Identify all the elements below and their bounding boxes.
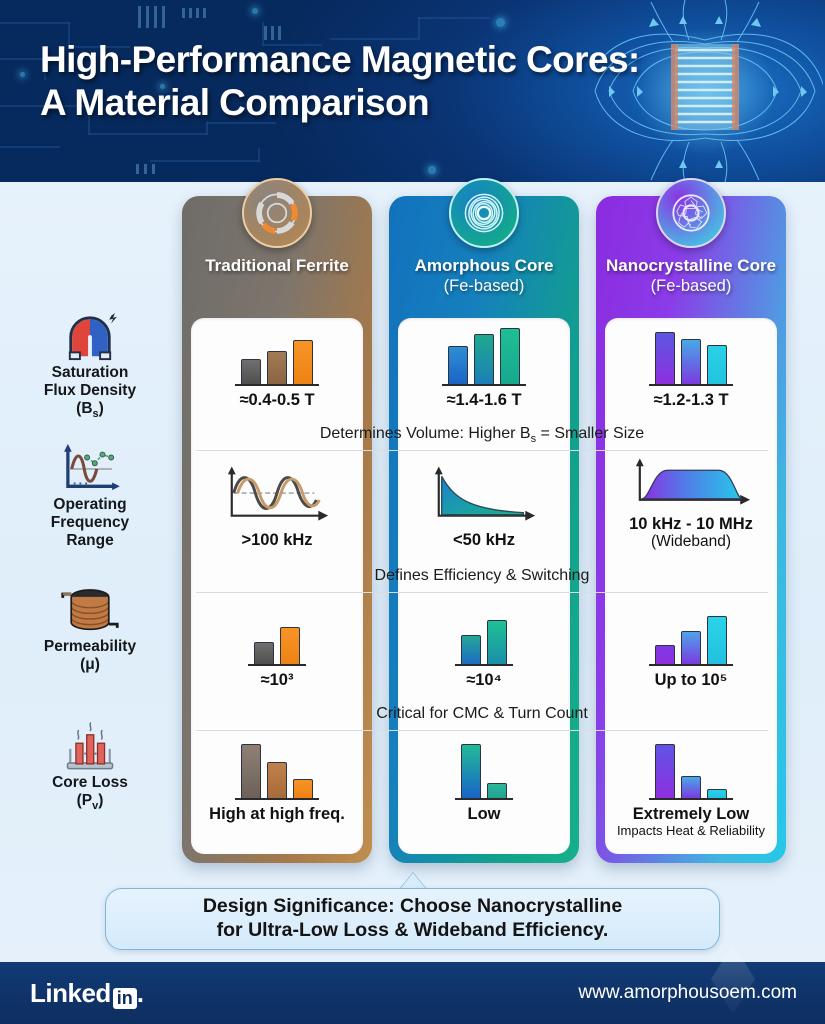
bar-chart-permeability: [398, 604, 570, 666]
column-traditional-ferrite[interactable]: Traditional Ferrite ≈0.4-0.5 T: [182, 196, 372, 863]
bar-chart-saturation: [191, 324, 363, 386]
column-nanocrystalline-core[interactable]: Nanocrystalline Core (Fe-based) ≈1.2-1.3…: [596, 196, 786, 863]
column-body: ≈0.4-0.5 T >100 kHz: [191, 318, 363, 854]
nanocrystalline-lattice-icon: [656, 178, 726, 248]
cell-value: 10 kHz - 10 MHz (Wideband): [605, 515, 777, 551]
bar-chart-core-loss: [605, 738, 777, 800]
cell-saturation: ≈1.4-1.6 T: [398, 324, 570, 409]
cell-value: ≈1.4-1.6 T: [398, 391, 570, 409]
linkedin-wordmark: Linked: [30, 978, 111, 1009]
metric-symbol: (Pv): [0, 792, 180, 812]
cell-permeability: Up to 10⁵: [605, 604, 777, 689]
cell-value: Low: [398, 805, 570, 823]
footer-bar: Linked in . www.amorphousoem.com: [0, 962, 825, 1024]
infographic-page: High-Performance Magnetic Cores: A Mater…: [0, 0, 825, 1024]
metric-permeability: Permeability (μ): [0, 584, 180, 674]
metric-operating-frequency-range: Operating Frequency Range: [0, 442, 180, 550]
column-body: ≈1.4-1.6 T: [398, 318, 570, 854]
cell-permeability: ≈10³: [191, 604, 363, 689]
copper-coil-icon: [0, 584, 180, 638]
metric-saturation-flux-density: Saturation Flux Density (Bs): [0, 310, 180, 420]
cell-frequency: 10 kHz - 10 MHz (Wideband): [605, 458, 777, 551]
website-url[interactable]: www.amorphousoem.com: [578, 982, 797, 1004]
callout-pointer: [400, 873, 426, 889]
metric-symbol: (μ): [0, 656, 180, 674]
cell-value: ≈1.2-1.3 T: [605, 391, 777, 409]
column-header: Amorphous Core (Fe-based): [389, 196, 579, 324]
plateau-curve-chart: [605, 458, 777, 510]
bar-chart-saturation: [398, 324, 570, 386]
row-caption-saturation: Determines Volume: Higher Bs = Smaller S…: [182, 425, 782, 445]
cell-value: Up to 10⁵: [605, 671, 777, 689]
horseshoe-magnet-icon: [0, 310, 180, 364]
cell-permeability: ≈10⁴: [398, 604, 570, 689]
heat-loss-bars-icon: [0, 720, 180, 774]
linkedin-logo[interactable]: Linked in .: [30, 978, 144, 1009]
page-title: High-Performance Magnetic Cores: A Mater…: [40, 38, 650, 125]
header-banner: High-Performance Magnetic Cores: A Mater…: [0, 0, 825, 182]
column-title: Nanocrystalline Core (Fe-based): [596, 256, 786, 297]
cell-value: <50 kHz: [398, 531, 570, 549]
cell-saturation: ≈1.2-1.3 T: [605, 324, 777, 409]
cell-core-loss: Extremely Low Impacts Heat & Reliability: [605, 738, 777, 839]
bar-chart-core-loss: [398, 738, 570, 800]
amorphous-ribbon-icon: [449, 178, 519, 248]
comparison-grid: Saturation Flux Density (Bs): [0, 182, 825, 882]
ferrite-toroid-icon: [242, 178, 312, 248]
column-title: Traditional Ferrite: [182, 256, 372, 276]
linkedin-badge: in: [113, 988, 137, 1009]
cell-saturation: ≈0.4-0.5 T: [191, 324, 363, 409]
decay-curve-chart: [398, 464, 570, 526]
cell-core-loss: High at high freq.: [191, 738, 363, 823]
cell-value: High at high freq.: [191, 805, 363, 823]
cell-value: ≈10³: [191, 671, 363, 689]
row-divider: [196, 730, 768, 731]
cell-frequency: >100 kHz: [191, 464, 363, 549]
metric-symbol: (Bs): [0, 400, 180, 420]
cell-value: >100 kHz: [191, 531, 363, 549]
metric-label: Permeability: [0, 638, 180, 656]
row-divider: [196, 450, 768, 451]
callout-text: Design Significance: Choose Nanocrystall…: [203, 895, 622, 943]
linkedin-dot: .: [137, 978, 144, 1009]
bar-chart-permeability: [605, 604, 777, 666]
metric-label: Saturation Flux Density: [0, 364, 180, 400]
row-caption-frequency: Defines Efficiency & Switching: [182, 567, 782, 585]
cell-value: ≈0.4-0.5 T: [191, 391, 363, 409]
waveform-chart-icon: [0, 442, 180, 496]
column-amorphous-core[interactable]: Amorphous Core (Fe-based) ≈1.4-1.6 T: [389, 196, 579, 863]
row-caption-permeability: Critical for CMC & Turn Count: [182, 705, 782, 723]
design-significance-callout: Design Significance: Choose Nanocrystall…: [105, 888, 720, 950]
sine-wave-chart: [191, 464, 363, 526]
metric-label: Core Loss: [0, 774, 180, 792]
column-body: ≈1.2-1.3 T: [605, 318, 777, 854]
bar-chart-core-loss: [191, 738, 363, 800]
column-header: Traditional Ferrite: [182, 196, 372, 324]
metric-label: Operating Frequency Range: [0, 496, 180, 550]
cell-value: ≈10⁴: [398, 671, 570, 689]
bar-chart-permeability: [191, 604, 363, 666]
row-divider: [196, 592, 768, 593]
bar-chart-saturation: [605, 324, 777, 386]
metric-core-loss: Core Loss (Pv): [0, 720, 180, 812]
metrics-sidebar: Saturation Flux Density (Bs): [0, 182, 180, 882]
column-title: Amorphous Core (Fe-based): [389, 256, 579, 297]
cell-frequency: <50 kHz: [398, 464, 570, 549]
cell-value: Extremely Low Impacts Heat & Reliability: [605, 805, 777, 839]
cell-core-loss: Low: [398, 738, 570, 823]
column-header: Nanocrystalline Core (Fe-based): [596, 196, 786, 324]
